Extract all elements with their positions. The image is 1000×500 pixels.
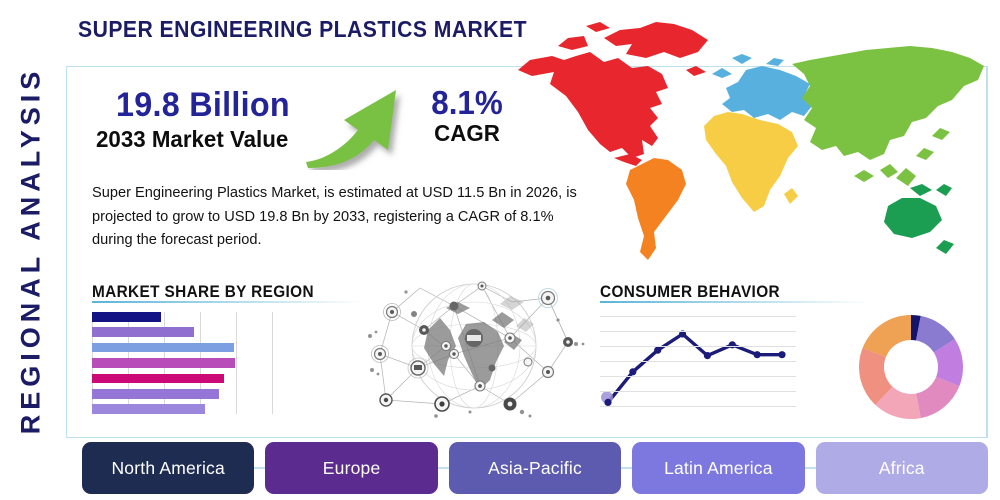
globe-network-icon [362, 272, 590, 422]
bar-chart-bar [92, 404, 205, 414]
bar-chart-row [92, 389, 278, 399]
market-share-heading-rule [92, 301, 364, 303]
line-chart-gridline [600, 346, 796, 347]
consumer-behavior-heading: CONSUMER BEHAVIOR [600, 283, 780, 302]
line-chart-gridline [600, 316, 796, 317]
up-arrow-icon [300, 78, 412, 170]
bar-chart-row [92, 343, 278, 353]
vertical-section-label: REGIONAL ANALYSIS [0, 0, 62, 500]
bar-chart-bar [92, 312, 161, 322]
line-chart-gridline [600, 391, 796, 392]
bar-chart-row [92, 358, 278, 368]
bar-chart-bar [92, 327, 194, 337]
market-share-bar-chart [92, 312, 278, 414]
region-tab-europe[interactable]: Europe [265, 442, 437, 494]
world-map-icon [492, 8, 992, 270]
line-chart-gridline [600, 361, 796, 362]
vertical-section-label-text: REGIONAL ANALYSIS [16, 66, 47, 434]
market-value-label: 2033 Market Value [96, 126, 288, 153]
region-tab-africa[interactable]: Africa [816, 442, 988, 494]
bar-chart-bar [92, 343, 234, 353]
bar-chart-bar [92, 389, 219, 399]
bar-chart-row [92, 374, 278, 384]
region-tab-asia-pacific[interactable]: Asia-Pacific [449, 442, 621, 494]
bar-chart-row [92, 312, 278, 322]
region-tabs: North AmericaEuropeAsia-PacificLatin Ame… [82, 442, 988, 494]
line-chart-gridline [600, 406, 796, 407]
line-chart-gridline [600, 331, 796, 332]
region-tab-latin-america[interactable]: Latin America [632, 442, 804, 494]
consumer-behavior-line-chart [600, 310, 796, 414]
bar-chart-row [92, 404, 278, 414]
bar-chart-row [92, 327, 278, 337]
market-share-heading: MARKET SHARE BY REGION [92, 283, 314, 302]
line-chart-gridline [600, 376, 796, 377]
bar-chart-bar [92, 358, 235, 368]
segment-donut-chart [852, 308, 970, 426]
region-tab-north-america[interactable]: North America [82, 442, 254, 494]
page-title: SUPER ENGINEERING PLASTICS MARKET [78, 16, 527, 43]
line-chart-gridlines [600, 310, 796, 414]
consumer-behavior-heading-rule [600, 301, 870, 303]
infographic-root: REGIONAL ANALYSIS SUPER ENGINEERING PLAS… [0, 0, 1000, 500]
market-value-figure: 19.8 Billion [116, 86, 290, 125]
bar-chart-bar [92, 374, 224, 384]
